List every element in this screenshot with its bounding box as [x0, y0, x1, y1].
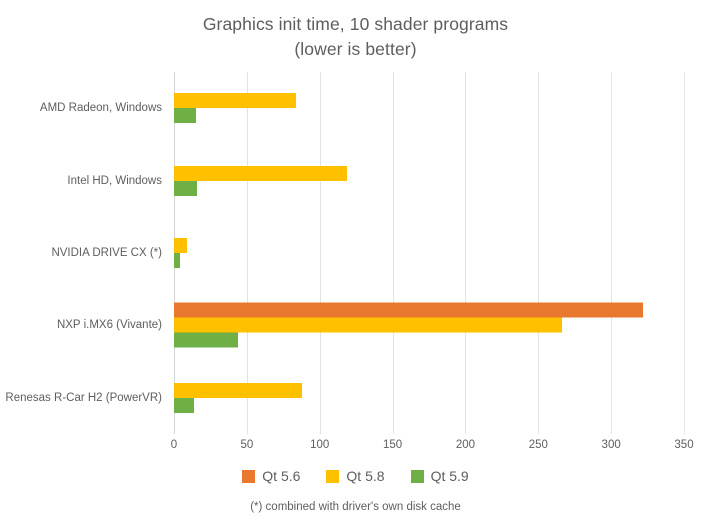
chart-footnote: (*) combined with driver's own disk cach… — [0, 499, 711, 515]
legend-swatch-icon — [242, 470, 255, 483]
bar-chart: Graphics init time, 10 shader programs (… — [0, 0, 711, 527]
bar-group-bars — [174, 166, 684, 196]
legend-item[interactable]: Qt 5.9 — [411, 468, 469, 484]
x-tick-label: 0 — [171, 437, 177, 453]
bar[interactable] — [174, 398, 194, 413]
legend-swatch-icon — [411, 470, 424, 483]
x-tick-label: 300 — [602, 437, 621, 453]
x-tick-label: 50 — [240, 437, 253, 453]
x-tick-label: 150 — [383, 437, 402, 453]
category-label: Intel HD, Windows — [0, 174, 162, 188]
x-axis-tick-labels: 050100150200250300350 — [0, 437, 711, 457]
chart-title: Graphics init time, 10 shader programs (… — [0, 12, 711, 62]
bar[interactable] — [174, 238, 187, 253]
bar[interactable] — [174, 303, 643, 318]
bar[interactable] — [174, 318, 562, 333]
category-label: AMD Radeon, Windows — [0, 101, 162, 115]
chart-subtitle: (lower is better) — [0, 37, 711, 62]
legend-swatch-icon — [326, 470, 339, 483]
bar[interactable] — [174, 93, 296, 108]
bar-group — [174, 144, 684, 216]
category-axis-labels: AMD Radeon, WindowsIntel HD, WindowsNVID… — [0, 72, 168, 434]
x-tick-label: 100 — [310, 437, 329, 453]
bar-group — [174, 217, 684, 289]
legend-item[interactable]: Qt 5.6 — [242, 468, 300, 484]
bar-rows — [174, 72, 684, 434]
x-tick-label: 350 — [674, 437, 693, 453]
legend-label: Qt 5.8 — [346, 468, 384, 484]
legend-label: Qt 5.6 — [262, 468, 300, 484]
category-label: Renesas R-Car H2 (PowerVR) — [0, 391, 162, 405]
gridline — [684, 72, 685, 434]
legend-label: Qt 5.9 — [431, 468, 469, 484]
bar[interactable] — [174, 253, 180, 268]
legend-item[interactable]: Qt 5.8 — [326, 468, 384, 484]
chart-title-main: Graphics init time, 10 shader programs — [203, 14, 508, 34]
bar[interactable] — [174, 166, 347, 181]
bar[interactable] — [174, 108, 196, 123]
x-tick-label: 250 — [529, 437, 548, 453]
bar[interactable] — [174, 181, 197, 196]
plot-area — [174, 72, 684, 434]
bar[interactable] — [174, 333, 238, 348]
category-label: NVIDIA DRIVE CX (*) — [0, 246, 162, 260]
chart-legend: Qt 5.6Qt 5.8Qt 5.9 — [0, 468, 711, 484]
bar-group — [174, 289, 684, 361]
x-tick-label: 200 — [456, 437, 475, 453]
bar[interactable] — [174, 383, 302, 398]
category-label: NXP i.MX6 (Vivante) — [0, 318, 162, 332]
bar-group-bars — [174, 238, 684, 268]
bar-group-bars — [174, 383, 684, 413]
bar-group-bars — [174, 93, 684, 123]
bar-group-bars — [174, 303, 684, 348]
bar-group — [174, 362, 684, 434]
bar-group — [174, 72, 684, 144]
